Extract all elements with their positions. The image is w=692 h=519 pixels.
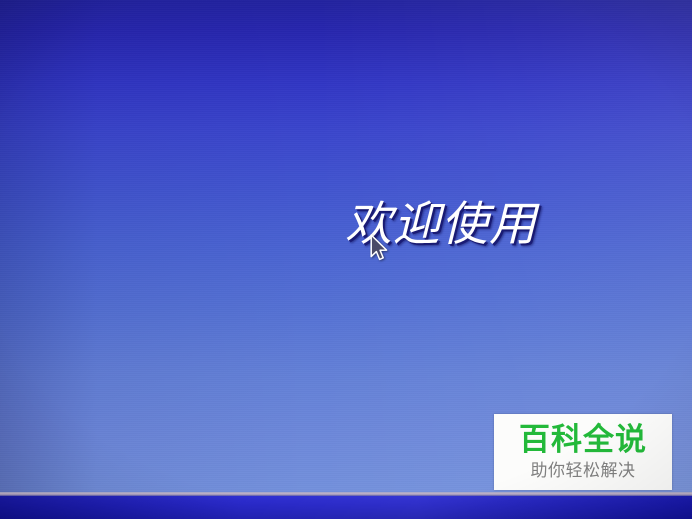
welcome-screen: 欢迎使用 百科全说 助你轻松解决 — [0, 0, 692, 519]
bottom-strip-sheen — [0, 496, 692, 519]
arrow-pointer-cursor-icon — [370, 234, 390, 264]
watermark-title: 百科全说 — [519, 422, 647, 458]
watermark-badge: 百科全说 助你轻松解决 — [494, 414, 672, 490]
watermark-subtitle: 助你轻松解决 — [531, 460, 636, 482]
mouse-cursor[interactable] — [370, 234, 390, 264]
